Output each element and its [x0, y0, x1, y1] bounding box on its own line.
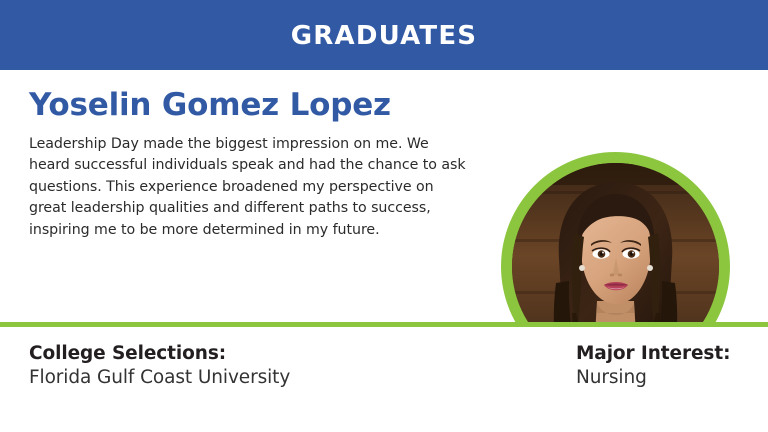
footer: College Selections: Florida Gulf Coast U…	[0, 327, 768, 432]
student-quote: Leadership Day made the biggest impressi…	[29, 122, 469, 242]
page-title: GRADUATES	[291, 23, 478, 49]
major-interest-label: Major Interest:	[576, 342, 766, 366]
major-interest-value: Nursing	[576, 366, 766, 390]
graduate-spotlight-slide: GRADUATES Yoselin Gomez Lopez Leadership…	[0, 0, 768, 432]
college-selections-value: Florida Gulf Coast University	[29, 366, 549, 390]
student-name: Yoselin Gomez Lopez	[29, 70, 477, 122]
college-selections-label: College Selections:	[29, 342, 549, 366]
header-banner: GRADUATES	[0, 0, 768, 70]
student-text-column: Yoselin Gomez Lopez Leadership Day made …	[29, 70, 477, 241]
major-interest-block: Major Interest: Nursing	[576, 342, 766, 390]
main-content: Yoselin Gomez Lopez Leadership Day made …	[0, 70, 768, 322]
college-selections-block: College Selections: Florida Gulf Coast U…	[29, 342, 549, 390]
